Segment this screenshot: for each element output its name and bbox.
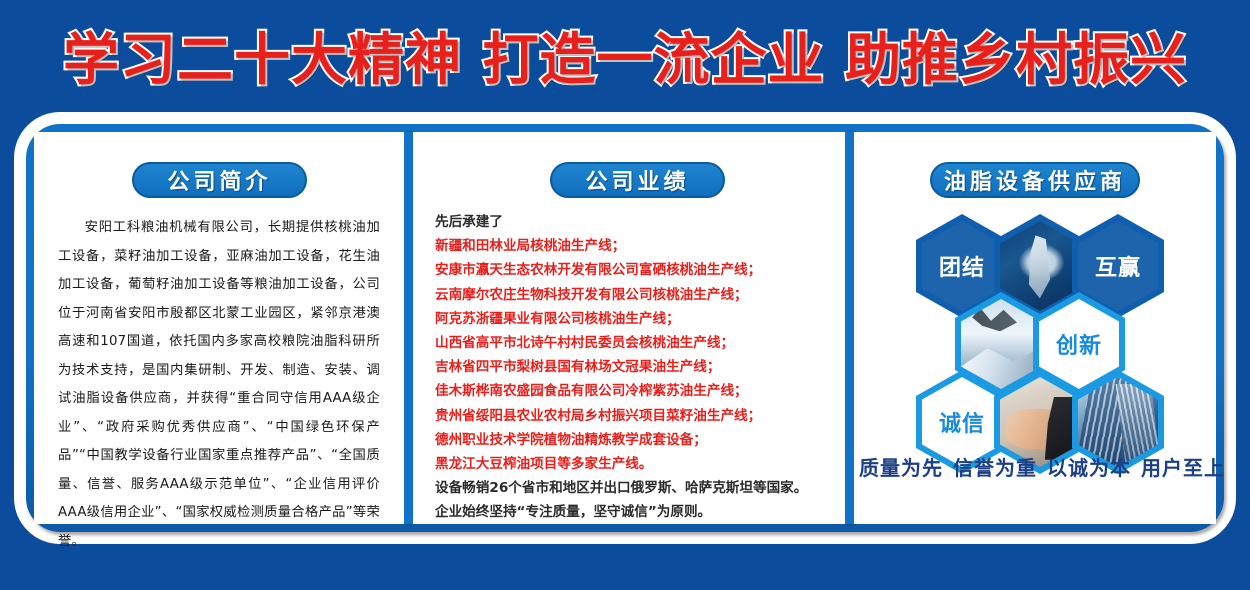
performance-project-line: 德州职业技术学院植物油精炼教学成套设备； bbox=[435, 428, 833, 452]
performance-project-line: 阿克苏浙疆果业有限公司核桃油生产线； bbox=[435, 307, 833, 331]
performance-project-line: 云南摩尔农庄生物科技开发有限公司核桃油生产线； bbox=[435, 283, 833, 307]
performance-project-line: 吉林省四平市梨树县国有林场文冠果油生产线； bbox=[435, 355, 833, 379]
badge-company-intro: 公司简介 bbox=[132, 162, 307, 198]
badge-oil-equipment-supplier: 油脂设备供应商 bbox=[930, 162, 1140, 198]
slogan-phrase: 质量为先 bbox=[859, 456, 943, 480]
company-performance-text: 先后承建了 新疆和田林业局核桃油生产线；安康市瀛天生态农林开发有限公司富硒核桃油… bbox=[435, 210, 833, 525]
hexagon-cluster: 团结 互赢 创新 诚信 bbox=[854, 206, 1216, 456]
panel-company-performance: 公司业绩 先后承建了 新疆和田林业局核桃油生产线；安康市瀛天生态农林开发有限公司… bbox=[413, 132, 845, 524]
header-banner: 学习二十大精神 打造一流企业 助推乡村振兴 bbox=[0, 0, 1250, 110]
performance-intro-line: 先后承建了 bbox=[435, 210, 833, 234]
aircraft-carrier-icon bbox=[1000, 221, 1080, 311]
performance-project-list: 新疆和田林业局核桃油生产线；安康市瀛天生态农林开发有限公司富硒核桃油生产线；云南… bbox=[435, 234, 833, 476]
performance-project-line: 黑龙江大豆榨油项目等多家生产线。 bbox=[435, 452, 833, 476]
company-intro-text: 安阳工科粮油机械有限公司，长期提供核桃油加工设备，菜籽油加工设备，亚麻油加工设备… bbox=[58, 214, 380, 556]
success-mountain-icon bbox=[961, 299, 1041, 389]
bottom-slogan: 质量为先信誉为重以诚为本用户至上 bbox=[854, 452, 1216, 481]
badge-company-performance: 公司业绩 bbox=[550, 162, 725, 198]
performance-project-line: 新疆和田林业局核桃油生产线； bbox=[435, 234, 833, 258]
page-title: 学习二十大精神 打造一流企业 助推乡村振兴 bbox=[63, 15, 1187, 96]
slogan-phrase: 信誉为重 bbox=[953, 456, 1037, 480]
panel-divider-right bbox=[845, 132, 854, 524]
panel-company-intro: 公司简介 安阳工科粮油机械有限公司，长期提供核桃油加工设备，菜籽油加工设备，亚麻… bbox=[34, 132, 404, 524]
poster-canvas: 学习二十大精神 打造一流企业 助推乡村振兴 公司简介 安阳工科粮油机械有限公司，… bbox=[0, 0, 1250, 590]
performance-footer-lines: 设备畅销26个省市和地区并出口俄罗斯、哈萨克斯坦等国家。企业始终坚持“专注质量，… bbox=[435, 476, 833, 524]
performance-project-line: 山西省高平市北诗午村村民委员会核桃油生产线； bbox=[435, 331, 833, 355]
hexagon-unity-label: 团结 bbox=[922, 221, 1002, 311]
slogan-phrase: 用户至上 bbox=[1141, 456, 1225, 480]
panel-supplier-graphic: 油脂设备供应商 团结 互赢 创新 诚信 bbox=[854, 132, 1216, 524]
performance-footer-line: 企业始终坚持“专注质量，坚守诚信”为原则。 bbox=[435, 500, 833, 524]
performance-project-line: 佳木斯桦南农盛园食品有限公司冷榨紫苏油生产线； bbox=[435, 379, 833, 403]
performance-project-line: 安康市瀛天生态农林开发有限公司富硒核桃油生产线； bbox=[435, 258, 833, 282]
hexagon-mutual-win-label: 互赢 bbox=[1078, 221, 1158, 311]
panel-divider-left bbox=[404, 132, 413, 524]
performance-project-line: 贵州省绥阳县农业农村局乡村振兴项目菜籽油生产线； bbox=[435, 404, 833, 428]
performance-footer-line: 设备畅销26个省市和地区并出口俄罗斯、哈萨克斯坦等国家。 bbox=[435, 476, 833, 500]
hexagon-innovation-label: 创新 bbox=[1039, 299, 1119, 389]
slogan-phrase: 以诚为本 bbox=[1047, 456, 1131, 480]
